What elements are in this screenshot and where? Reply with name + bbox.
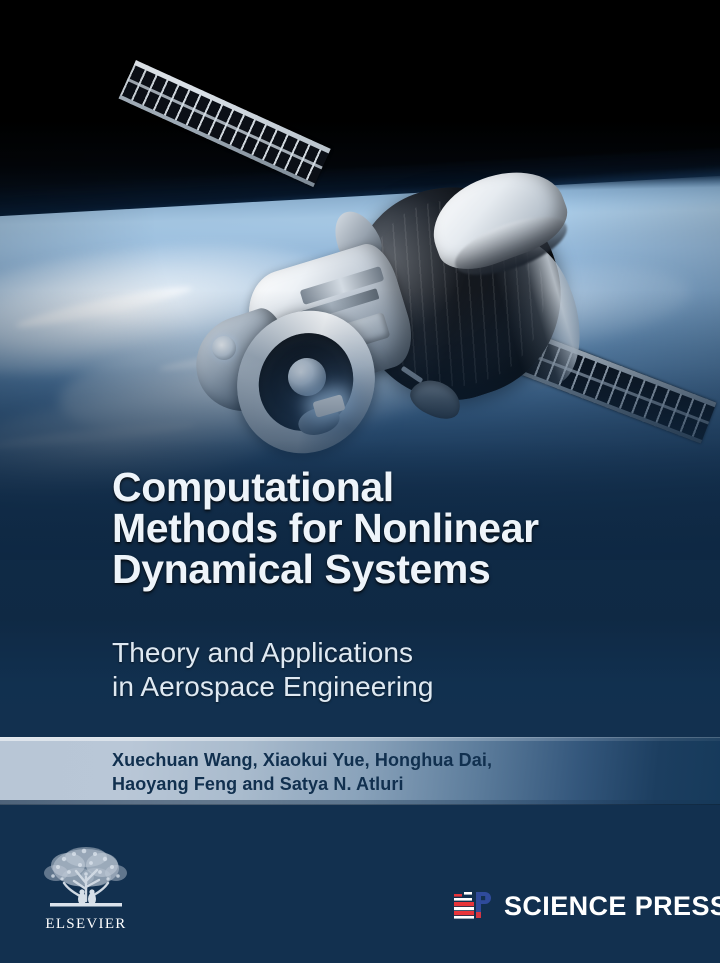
science-press-emblem — [452, 888, 494, 924]
elsevier-wordmark: ELSEVIER — [38, 916, 134, 933]
author-line: Haoyang Feng and Satya N. Atluri — [112, 772, 672, 796]
science-press-wordmark: SCIENCE PRESS — [504, 891, 720, 921]
subtitle-line: in Aerospace Engineering — [112, 670, 680, 704]
author-list: Xuechuan Wang, Xiaokui Yue, Honghua Dai,… — [112, 748, 672, 796]
science-press-logo: SCIENCE PRESS — [452, 888, 720, 924]
page-subtitle: Theory and Applications in Aerospace Eng… — [112, 636, 680, 704]
science-press-icon — [452, 888, 494, 924]
author-line: Xuechuan Wang, Xiaokui Yue, Honghua Dai, — [112, 748, 672, 772]
page-title: Computational Methods for Nonlinear Dyna… — [112, 467, 680, 590]
book-cover: Computational Methods for Nonlinear Dyna… — [0, 0, 720, 963]
title-line: Dynamical Systems — [112, 549, 680, 590]
subtitle-line: Theory and Applications — [112, 636, 680, 670]
title-line: Methods for Nonlinear — [112, 508, 680, 549]
elsevier-tree-icon — [38, 843, 134, 917]
band-highlight — [0, 737, 720, 741]
title-line: Computational — [112, 467, 680, 508]
elsevier-logo: ELSEVIER — [38, 843, 134, 935]
